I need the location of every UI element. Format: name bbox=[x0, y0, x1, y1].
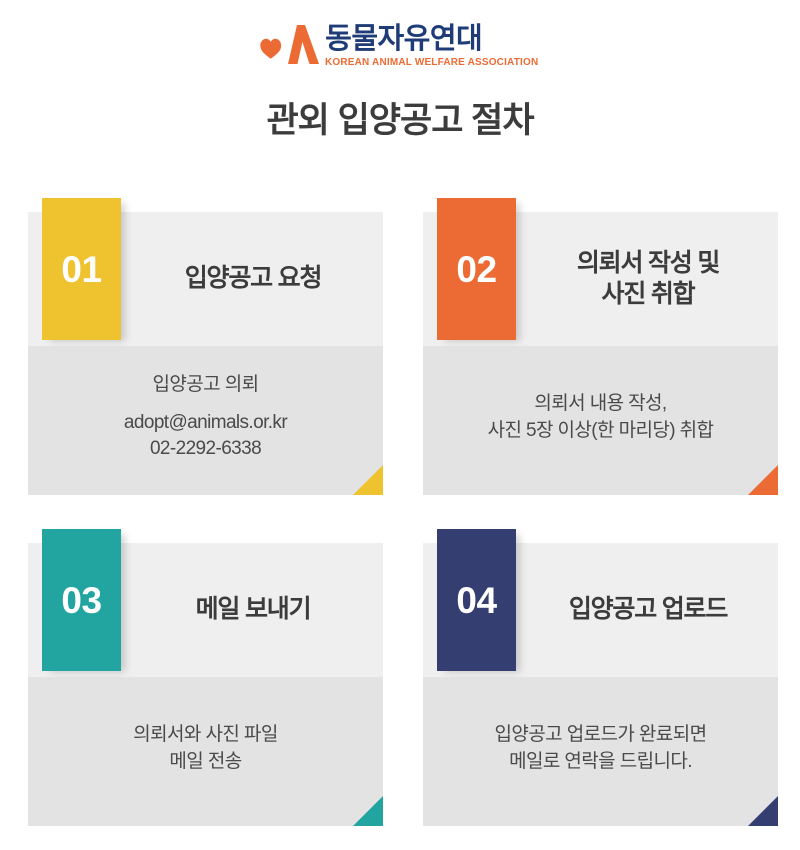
step-card-body: 의뢰서와 사진 파일 메일 전송 bbox=[28, 677, 383, 826]
organization-logo: 동물자유연대 KOREAN ANIMAL WELFARE ASSOCIATION bbox=[0, 16, 800, 74]
step-description-line-1: 의뢰서와 사진 파일 bbox=[133, 722, 277, 749]
corner-accent-triangle bbox=[748, 796, 778, 826]
step-card-01: 01 입양공고 요청 입양공고 의뢰 adopt@animals.or.kr 0… bbox=[28, 212, 383, 495]
step-card-03: 03 메일 보내기 의뢰서와 사진 파일 메일 전송 bbox=[28, 543, 383, 826]
step-number-badge: 04 bbox=[437, 529, 516, 671]
step-description-line-2: 사진 5장 이상(한 마리당) 취합 bbox=[488, 418, 714, 445]
step-number: 02 bbox=[456, 251, 496, 288]
step-description: 의뢰서 내용 작성, 사진 5장 이상(한 마리당) 취합 bbox=[423, 346, 778, 495]
steps-grid: 01 입양공고 요청 입양공고 의뢰 adopt@animals.or.kr 0… bbox=[28, 212, 778, 826]
logo-name-korean: 동물자유연대 bbox=[325, 24, 482, 54]
step-card-header: 02 의뢰서 작성 및 사진 취합 bbox=[423, 212, 778, 346]
step-description: 입양공고 의뢰 adopt@animals.or.kr 02-2292-6338 bbox=[28, 346, 383, 495]
page-title: 관외 입양공고 절차 bbox=[0, 100, 800, 142]
step-description: 입양공고 업로드가 완료되면 메일로 연락을 드립니다. bbox=[423, 677, 778, 826]
step-card-body: 의뢰서 내용 작성, 사진 5장 이상(한 마리당) 취합 bbox=[423, 346, 778, 495]
step-card-04: 04 입양공고 업로드 입양공고 업로드가 완료되면 메일로 연락을 드립니다. bbox=[423, 543, 778, 826]
step-number: 01 bbox=[61, 251, 101, 288]
step-description: 의뢰서와 사진 파일 메일 전송 bbox=[28, 677, 383, 826]
step-number-badge: 02 bbox=[437, 198, 516, 340]
corner-accent-triangle bbox=[748, 465, 778, 495]
step-card-body: 입양공고 의뢰 adopt@animals.or.kr 02-2292-6338 bbox=[28, 346, 383, 495]
step-card-header: 01 입양공고 요청 bbox=[28, 212, 383, 346]
step-number: 03 bbox=[61, 582, 101, 619]
step-title: 입양공고 업로드 bbox=[522, 543, 770, 677]
step-description-line-2: 메일 전송 bbox=[169, 749, 241, 776]
step-title: 메일 보내기 bbox=[127, 543, 375, 677]
step-number: 04 bbox=[456, 582, 496, 619]
step-card-header: 04 입양공고 업로드 bbox=[423, 543, 778, 677]
step-description-line-2: 메일로 연락을 드립니다. bbox=[509, 749, 692, 776]
step-number-badge: 03 bbox=[42, 529, 121, 671]
step-number-badge: 01 bbox=[42, 198, 121, 340]
step-title: 입양공고 요청 bbox=[127, 212, 375, 346]
kawa-a-mark-icon bbox=[257, 23, 319, 67]
step-description-line-1: 입양공고 업로드가 완료되면 bbox=[495, 722, 707, 749]
step-description-line-1: adopt@animals.or.kr bbox=[124, 410, 287, 437]
step-card-body: 입양공고 업로드가 완료되면 메일로 연락을 드립니다. bbox=[423, 677, 778, 826]
logo-name-english: KOREAN ANIMAL WELFARE ASSOCIATION bbox=[325, 57, 538, 68]
step-description-lead: 입양공고 의뢰 bbox=[153, 372, 259, 399]
step-card-02: 02 의뢰서 작성 및 사진 취합 의뢰서 내용 작성, 사진 5장 이상(한 … bbox=[423, 212, 778, 495]
corner-accent-triangle bbox=[353, 796, 383, 826]
step-description-line-1: 의뢰서 내용 작성, bbox=[534, 391, 666, 418]
step-title: 의뢰서 작성 및 사진 취합 bbox=[522, 212, 770, 346]
step-description-line-2: 02-2292-6338 bbox=[150, 436, 261, 463]
step-card-header: 03 메일 보내기 bbox=[28, 543, 383, 677]
corner-accent-triangle bbox=[353, 465, 383, 495]
